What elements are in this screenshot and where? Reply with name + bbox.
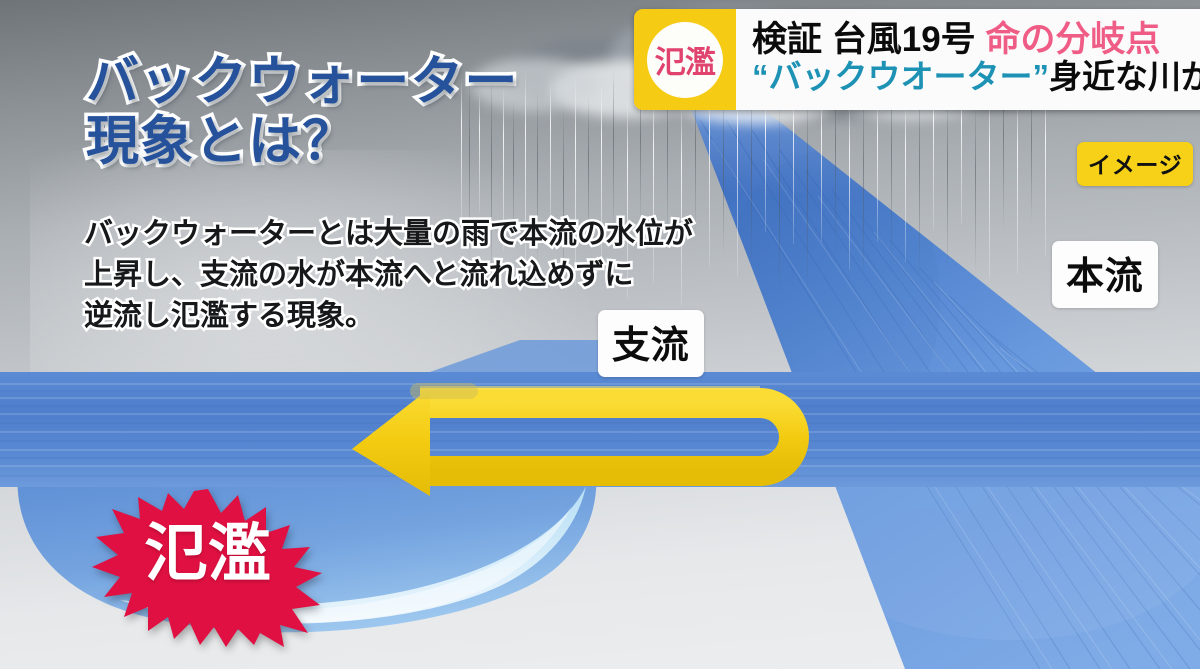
- banner-badge: 氾濫: [634, 9, 736, 110]
- banner-open-quote: “: [752, 58, 769, 95]
- image-disclaimer-badge: イメージ: [1077, 142, 1193, 186]
- banner-badge-text: 氾濫: [647, 22, 723, 98]
- banner-text-block: 検証 台風19号 命の分岐点 “バックウオーター”身近な川が…: [736, 9, 1200, 110]
- tributary-label: 支流: [598, 310, 704, 377]
- mainstream-label: 本流: [1052, 241, 1158, 308]
- banner-line2-black: 身近な川が…: [1049, 58, 1200, 95]
- page-title: バックウォーター 現象とは？: [86, 52, 706, 173]
- graphic-canvas: バックウォーター 現象とは？ バックウォーターとは大量の雨で本流の水位が 上昇し…: [0, 0, 1200, 669]
- banner-line-1: 検証 台風19号 命の分岐点: [752, 22, 1200, 58]
- broadcast-banner: 氾濫 検証 台風19号 命の分岐点 “バックウオーター”身近な川が…: [634, 9, 1200, 110]
- banner-line1-black: 検証 台風19号: [752, 20, 976, 59]
- banner-close-quote: ”: [1033, 58, 1050, 95]
- flood-starburst-badge: 氾濫: [88, 487, 328, 647]
- banner-line-2: “バックウオーター”身近な川が…: [752, 60, 1200, 95]
- title-line-2: 現象とは？: [86, 112, 706, 172]
- description-line-2: 上昇し、支流の水が本流へと流れ込めずに: [84, 255, 744, 296]
- flood-badge-text: 氾濫: [88, 523, 328, 586]
- banner-line1-pink: 命の分岐点: [985, 20, 1160, 59]
- banner-line2-cyan: バックウオーター: [769, 58, 1033, 95]
- description-line-1: バックウォーターとは大量の雨で本流の水位が: [84, 214, 744, 255]
- title-line-1: バックウォーター: [86, 52, 706, 112]
